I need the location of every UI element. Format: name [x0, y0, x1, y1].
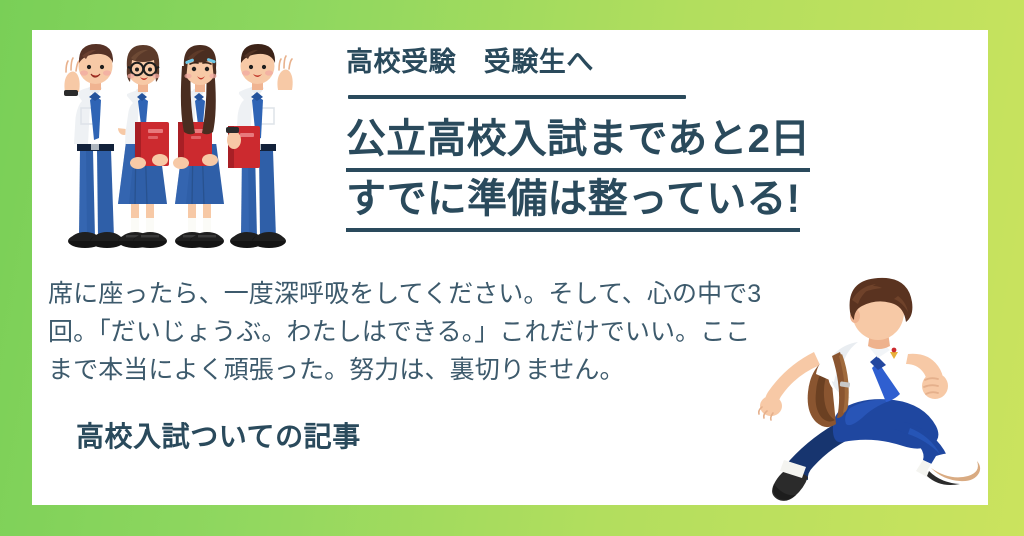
banner-root: 高校受験 受験生へ 公立高校入試まであと2日 すでに準備は整っている! 席に座っ…	[0, 0, 1024, 536]
headline-line-1-text: 公立高校入試まであと2日	[346, 112, 810, 172]
headline-line-1: 公立高校入試まであと2日	[346, 112, 906, 172]
students-illustration	[52, 30, 317, 260]
student-boy-left	[64, 44, 130, 248]
student-boy-right	[226, 44, 293, 248]
headline-line-2: すでに準備は整っている!	[346, 172, 906, 232]
student-girl-longhair	[173, 45, 227, 248]
headline-line-2-text: すでに準備は整っている!	[346, 172, 800, 232]
kicker-text: 高校受験 受験生へ	[346, 46, 906, 80]
header-divider	[348, 95, 686, 99]
headline-block: 高校受験 受験生へ 公立高校入試まであと2日 すでに準備は整っている!	[346, 46, 906, 232]
runner-illustration	[722, 270, 988, 505]
student-girl-glasses	[117, 45, 170, 248]
body-paragraph: 席に座ったら、一度深呼吸をしてください。そして、心の中で3 回。「だいじょうぶ。…	[48, 275, 808, 389]
white-content-panel: 高校受験 受験生へ 公立高校入試まであと2日 すでに準備は整っている! 席に座っ…	[32, 30, 988, 505]
article-caption: 高校入試ついての記事	[76, 415, 361, 455]
